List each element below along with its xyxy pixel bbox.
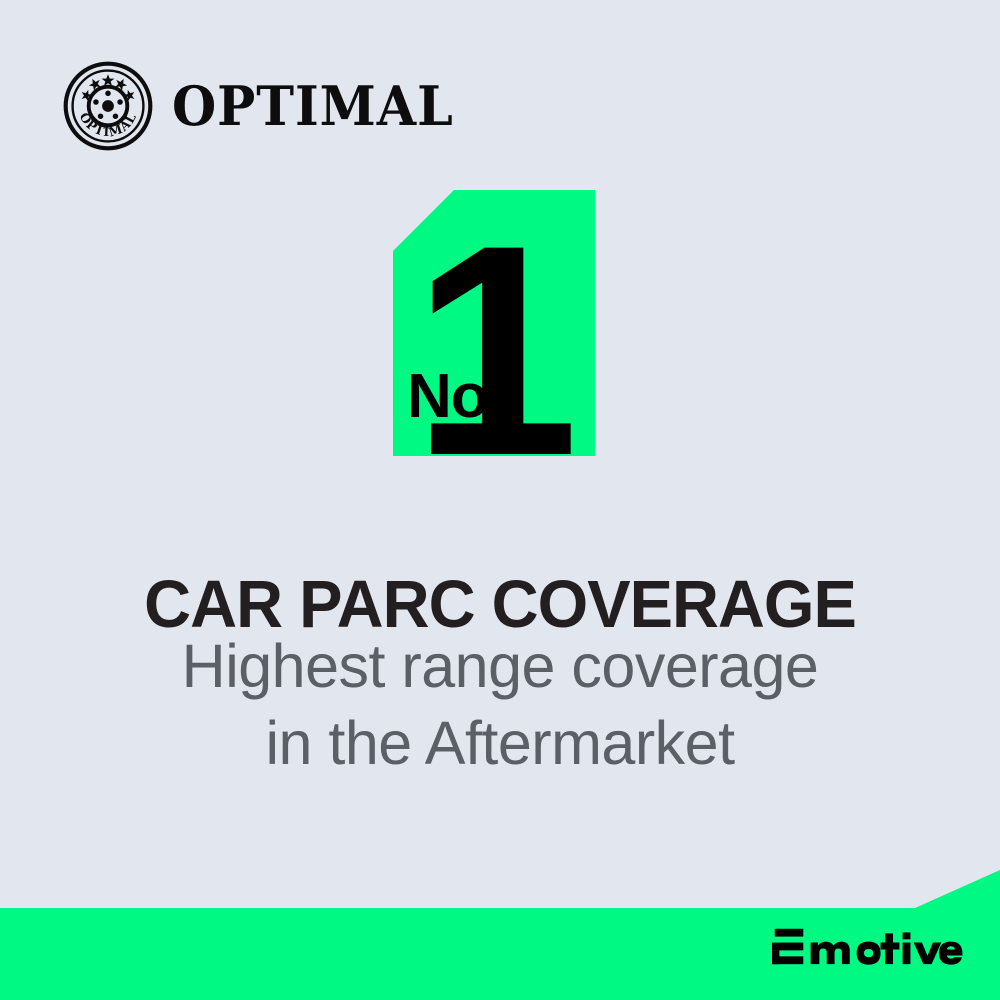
poster-canvas: OPTIMAL OPTIMAL 1 No. CAR PARC COVERAGE … [0, 0, 1000, 1000]
brand-wordmark: OPTIMAL [172, 79, 454, 133]
rank-prefix-label: No. [407, 366, 504, 428]
footer-banner [0, 870, 1000, 1000]
rank-badge: 1 No. [393, 190, 595, 456]
optimal-circular-wheel-emblem-icon: OPTIMAL [62, 60, 154, 152]
subtitle-line-2: in the Aftermarket [0, 705, 1000, 782]
brand-lockup: OPTIMAL OPTIMAL [62, 60, 472, 152]
subtitle-line-1: Highest range coverage [0, 628, 1000, 705]
rank-numeral: 1 [412, 200, 573, 500]
page-subtitle: Highest range coverage in the Aftermarke… [0, 628, 1000, 782]
